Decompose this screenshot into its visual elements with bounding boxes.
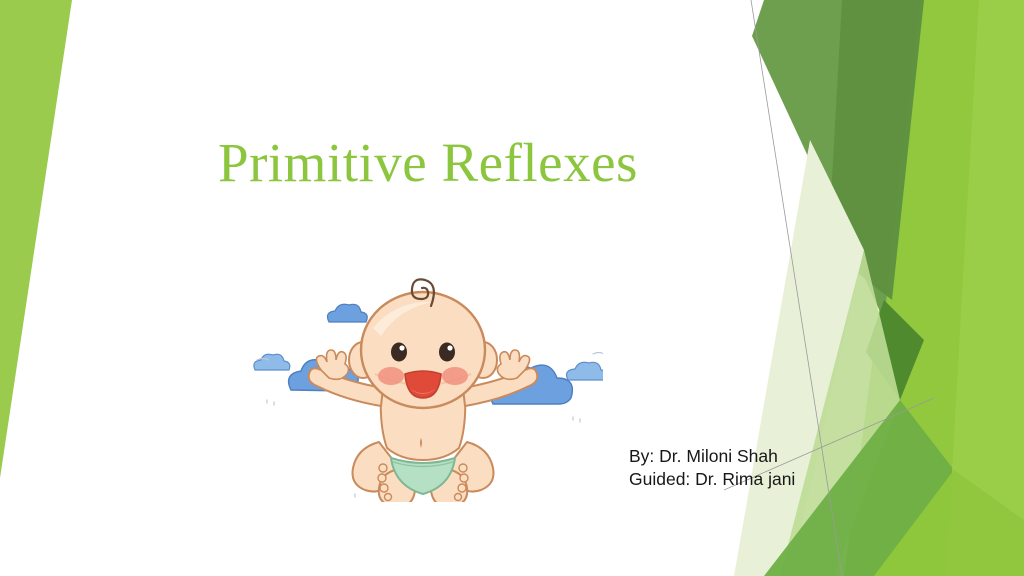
facet-right-strip [946,0,1024,576]
guide-line: Guided: Dr. Rima jani [629,468,795,491]
cloud-far-left-small [254,354,290,370]
author-line: By: Dr. Miloni Shah [629,445,795,468]
left-green-triangle [0,0,72,478]
facet-bright-right [844,0,1024,576]
slide-title: Primitive Reflexes [218,131,638,194]
baby-illustration [243,262,603,502]
facet-dark-overlay [828,0,924,300]
cloud-left-top-small [327,304,367,322]
cloud-far-right-small [567,362,603,380]
facet-medium-dark [752,0,920,320]
left-decoration-wedge [0,0,120,576]
author-credits: By: Dr. Miloni Shah Guided: Dr. Rima jan… [629,445,795,491]
presentation-slide: Primitive Reflexes [0,0,1024,576]
facet-light-wedge [780,250,900,576]
facet-bottom-sliver [874,470,1024,576]
facet-pale-wedge [734,140,864,576]
facet-deep-accent [866,300,924,400]
